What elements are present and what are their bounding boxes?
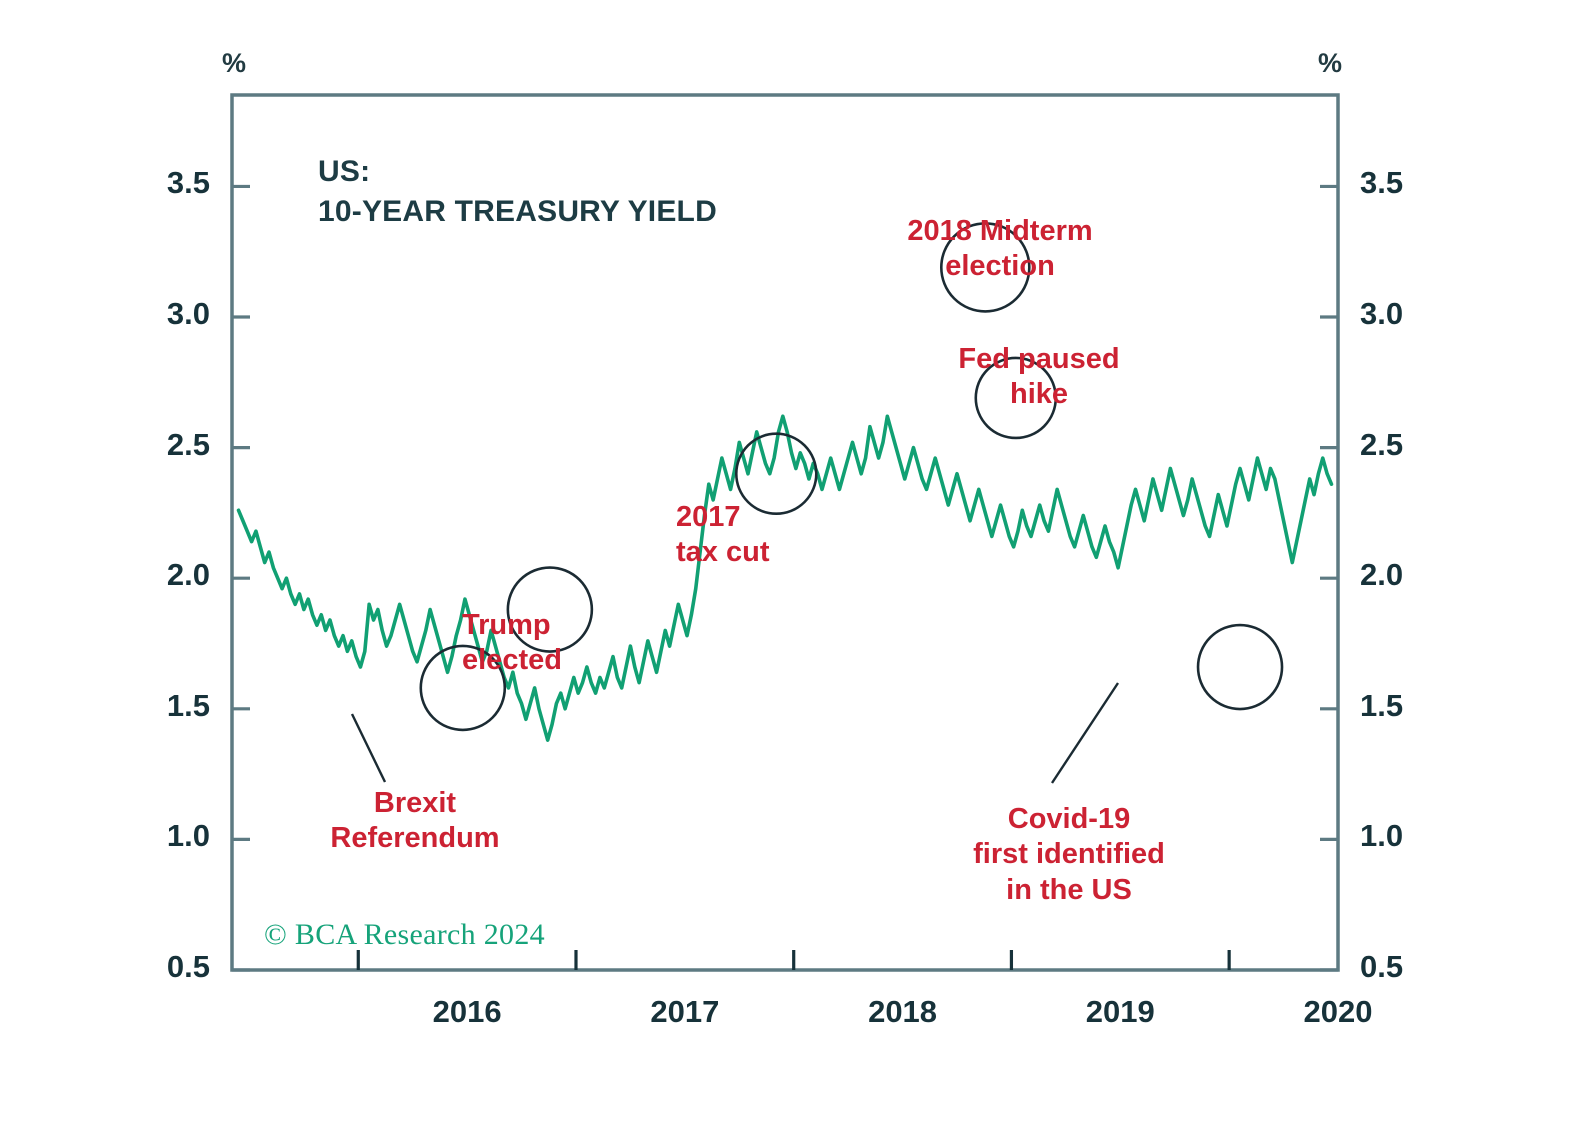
annotation-brexit: BrexitReferendum	[290, 786, 540, 857]
y-axis-tick-label-left: 3.0	[130, 296, 210, 332]
annotation-fedpause: Fed pausedhike	[924, 342, 1154, 413]
y-axis-tick-label-right: 3.5	[1360, 165, 1440, 201]
x-axis-tick-label: 2019	[1045, 994, 1195, 1030]
y-axis-tick-label-left: 0.5	[130, 949, 210, 985]
annotation-trump-line1: Trump	[462, 608, 682, 643]
y-axis-tick-label-left: 2.5	[130, 427, 210, 463]
annotation-trump: Trumpelected	[462, 608, 682, 679]
annotation-fedpause-line1: Fed paused	[924, 342, 1154, 377]
x-axis-tick-label: 2020	[1263, 994, 1413, 1030]
x-axis-tick-label: 2018	[828, 994, 978, 1030]
y-axis-tick-label-left: 3.5	[130, 165, 210, 201]
y-axis-tick-label-right: 1.5	[1360, 688, 1440, 724]
y-axis-tick-label-right: 3.0	[1360, 296, 1440, 332]
annotation-taxcut-line2: tax cut	[676, 535, 876, 570]
y-axis-tick-label-right: 2.0	[1360, 557, 1440, 593]
annotation-fedpause-line2: hike	[924, 377, 1154, 412]
annotation-midterm: 2018 Midtermelection	[870, 214, 1130, 285]
y-axis-tick-label-right: 2.5	[1360, 427, 1440, 463]
annotation-covid-line2: first identified	[944, 837, 1194, 872]
copyright-notice: © BCA Research 2024	[264, 918, 545, 952]
y-axis-tick-label-right: 0.5	[1360, 949, 1440, 985]
y-axis-tick-label-left: 1.5	[130, 688, 210, 724]
annotation-brexit-line1: Brexit	[290, 786, 540, 821]
annotation-covid-line3: in the US	[944, 873, 1194, 908]
series-line-us-10y-treasury-yield	[239, 416, 1332, 740]
y-axis-tick-label-right: 1.0	[1360, 818, 1440, 854]
annotation-brexit-line2: Referendum	[290, 821, 540, 856]
annotation-midterm-line1: 2018 Midterm	[870, 214, 1130, 249]
y-axis-tick-label-left: 1.0	[130, 818, 210, 854]
annotation-midterm-line2: election	[870, 249, 1130, 284]
annotation-taxcut-line1: 2017	[676, 500, 876, 535]
y-axis-tick-label-left: 2.0	[130, 557, 210, 593]
annotation-trump-line2: elected	[462, 643, 682, 678]
x-axis-tick-label: 2017	[610, 994, 760, 1030]
annotation-taxcut: 2017tax cut	[676, 500, 876, 571]
x-axis-tick-label: 2016	[392, 994, 542, 1030]
chart-root: % % US: 10-YEAR TREASURY YIELD 0.50.51.0…	[0, 0, 1596, 1144]
annotation-covid: Covid-19first identifiedin the US	[944, 802, 1194, 908]
plot-svg	[0, 0, 1596, 1144]
annotation-covid-line1: Covid-19	[944, 802, 1194, 837]
